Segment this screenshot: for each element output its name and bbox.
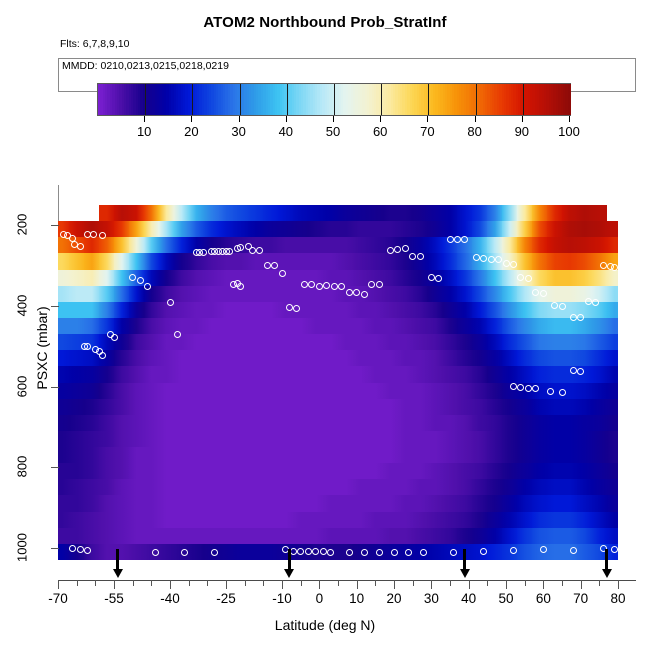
sample-point	[264, 262, 271, 269]
x-tick-major	[282, 580, 283, 589]
sample-point	[592, 299, 599, 306]
sample-point	[308, 281, 315, 288]
x-tick-label: 70	[573, 591, 588, 606]
sample-point	[532, 289, 539, 296]
sample-point	[532, 385, 539, 392]
sample-point	[99, 352, 106, 359]
sample-point	[211, 549, 218, 556]
sample-point	[420, 549, 427, 556]
sample-point	[226, 248, 233, 255]
plot-area	[58, 205, 618, 560]
sample-point	[301, 281, 308, 288]
sample-point	[402, 245, 409, 252]
x-tick-minor	[375, 580, 376, 586]
sample-point	[577, 368, 584, 375]
x-tick-label: -70	[48, 591, 68, 606]
sample-point	[111, 334, 118, 341]
sample-point	[84, 547, 91, 554]
sample-point	[387, 247, 394, 254]
x-tick-label: 30	[424, 591, 439, 606]
sample-point	[525, 385, 532, 392]
colorbar-label: 40	[279, 124, 293, 139]
y-tick-label: 400	[15, 280, 30, 330]
x-tick-major	[618, 580, 619, 589]
x-tick-label: 20	[386, 591, 401, 606]
x-tick-label: 0	[316, 591, 324, 606]
sample-point	[312, 548, 319, 555]
x-tick-minor	[263, 580, 264, 586]
x-tick-label: -25	[216, 591, 236, 606]
x-tick-label: -55	[104, 591, 124, 606]
sample-point	[450, 549, 457, 556]
sample-point	[237, 283, 244, 290]
sample-point	[316, 283, 323, 290]
x-tick-label: 60	[536, 591, 551, 606]
arrow-shaft	[463, 549, 466, 571]
colorbar-tick-labels: 102030405060708090100	[0, 124, 650, 140]
sample-point	[570, 547, 577, 554]
x-tick-major	[58, 580, 59, 589]
sample-point	[77, 546, 84, 553]
sample-point	[353, 289, 360, 296]
x-tick-minor	[133, 580, 134, 586]
sample-points-layer	[58, 205, 618, 560]
sample-point	[517, 274, 524, 281]
sample-point	[428, 274, 435, 281]
arrow-shaft	[116, 549, 119, 571]
arrow-head	[460, 569, 470, 578]
x-axis-line	[58, 580, 636, 581]
sample-point	[376, 281, 383, 288]
y-tick	[51, 387, 59, 388]
sample-point	[331, 283, 338, 290]
sample-point	[320, 548, 327, 555]
sample-point	[237, 244, 244, 251]
arrow-head	[113, 569, 123, 578]
x-axis-title: Latitude (deg N)	[0, 617, 650, 633]
sample-point	[361, 291, 368, 298]
colorbar-label: 70	[420, 124, 434, 139]
mmdd-label: MMDD: 0210,0213,0215,0218,0219	[62, 60, 229, 72]
sample-point	[473, 254, 480, 261]
x-tick-minor	[189, 580, 190, 586]
sample-point	[181, 549, 188, 556]
sample-point	[559, 303, 566, 310]
sample-point	[99, 232, 106, 239]
sample-point	[409, 253, 416, 260]
x-tick-minor	[338, 580, 339, 586]
sample-point	[346, 289, 353, 296]
sample-point	[293, 305, 300, 312]
x-tick-minor	[151, 580, 152, 586]
sample-point	[600, 262, 607, 269]
x-tick-minor	[562, 580, 563, 586]
x-tick-minor	[599, 580, 600, 586]
x-tick-label: 80	[610, 591, 625, 606]
x-tick-minor	[207, 580, 208, 586]
x-tick-major	[226, 580, 227, 589]
sample-point	[405, 549, 412, 556]
y-tick	[51, 548, 59, 549]
sample-point	[77, 243, 84, 250]
sample-point	[271, 262, 278, 269]
x-tick-label: 40	[461, 591, 476, 606]
y-tick-label: 600	[15, 361, 30, 411]
x-tick-major	[431, 580, 432, 589]
sample-point	[137, 277, 144, 284]
sample-point	[200, 249, 207, 256]
page-title: ATOM2 Northbound Prob_StratInf	[0, 14, 650, 31]
sample-point	[417, 253, 424, 260]
sample-point	[495, 256, 502, 263]
sample-point	[510, 383, 517, 390]
sample-point	[152, 549, 159, 556]
sample-point	[454, 236, 461, 243]
sample-point	[540, 290, 547, 297]
sample-point	[368, 281, 375, 288]
y-tick	[51, 306, 59, 307]
sample-point	[570, 367, 577, 374]
colorbar-label: 100	[558, 124, 580, 139]
x-tick-minor	[95, 580, 96, 586]
x-tick-major	[394, 580, 395, 589]
sample-point	[461, 236, 468, 243]
colorbar-label: 60	[373, 124, 387, 139]
x-tick-major	[319, 580, 320, 589]
x-tick-minor	[487, 580, 488, 586]
sample-point	[346, 549, 353, 556]
arrow-shaft	[605, 549, 608, 571]
sample-point	[144, 283, 151, 290]
x-tick-major	[581, 580, 582, 589]
sample-point	[129, 274, 136, 281]
sample-point	[305, 548, 312, 555]
arrow-head	[284, 569, 294, 578]
flights-label: Flts: 6,7,8,9,10	[60, 38, 129, 50]
colorbar-ticks	[97, 116, 571, 123]
sample-point	[480, 255, 487, 262]
sample-point	[503, 260, 510, 267]
sample-point	[376, 549, 383, 556]
y-axis-title: PSXC (mbar)	[34, 268, 50, 428]
sample-point	[585, 298, 592, 305]
sample-point	[510, 261, 517, 268]
sample-point	[559, 389, 566, 396]
x-tick-label: 50	[498, 591, 513, 606]
y-tick-label: 800	[15, 442, 30, 492]
sample-point	[249, 247, 256, 254]
arrow-head	[602, 569, 612, 578]
y-tick	[51, 225, 59, 226]
sample-point	[174, 331, 181, 338]
y-tick-label: 1000	[15, 522, 30, 572]
sample-point	[547, 388, 554, 395]
sample-point	[323, 282, 330, 289]
x-tick-major	[357, 580, 358, 589]
x-tick-minor	[245, 580, 246, 586]
y-tick-label: 200	[15, 200, 30, 250]
colorbar-label: 90	[515, 124, 529, 139]
x-tick-minor	[450, 580, 451, 586]
sample-point	[69, 545, 76, 552]
sample-point	[286, 304, 293, 311]
sample-point	[435, 275, 442, 282]
x-tick-minor	[413, 580, 414, 586]
sample-point	[297, 548, 304, 555]
sample-point	[611, 546, 618, 553]
x-tick-major	[543, 580, 544, 589]
x-tick-label: -10	[272, 591, 292, 606]
sample-point	[338, 283, 345, 290]
sample-point	[327, 549, 334, 556]
x-tick-major	[506, 580, 507, 589]
sample-point	[540, 546, 547, 553]
sample-point	[577, 314, 584, 321]
arrow-shaft	[288, 549, 291, 571]
x-tick-minor	[77, 580, 78, 586]
sample-point	[510, 547, 517, 554]
colorbar-label: 10	[137, 124, 151, 139]
sample-point	[361, 549, 368, 556]
colorbar-gradient	[97, 83, 571, 116]
x-tick-label: -40	[160, 591, 180, 606]
sample-point	[167, 299, 174, 306]
x-tick-label: 10	[349, 591, 364, 606]
x-tick-minor	[525, 580, 526, 586]
colorbar-label: 50	[326, 124, 340, 139]
sample-point	[394, 246, 401, 253]
sample-point	[488, 256, 495, 263]
sample-point	[570, 314, 577, 321]
y-tick	[51, 467, 59, 468]
x-tick-major	[114, 580, 115, 589]
x-tick-major	[170, 580, 171, 589]
sample-point	[517, 384, 524, 391]
sample-point	[447, 236, 454, 243]
sample-point	[480, 548, 487, 555]
sample-point	[256, 247, 263, 254]
sample-point	[525, 275, 532, 282]
x-tick-major	[469, 580, 470, 589]
sample-point	[90, 231, 97, 238]
sample-point	[279, 270, 286, 277]
sample-point	[391, 549, 398, 556]
sample-point	[611, 264, 618, 271]
colorbar-label: 80	[467, 124, 481, 139]
x-tick-minor	[301, 580, 302, 586]
colorbar-label: 30	[231, 124, 245, 139]
colorbar-label: 20	[184, 124, 198, 139]
sample-point	[84, 343, 91, 350]
sample-point	[551, 302, 558, 309]
